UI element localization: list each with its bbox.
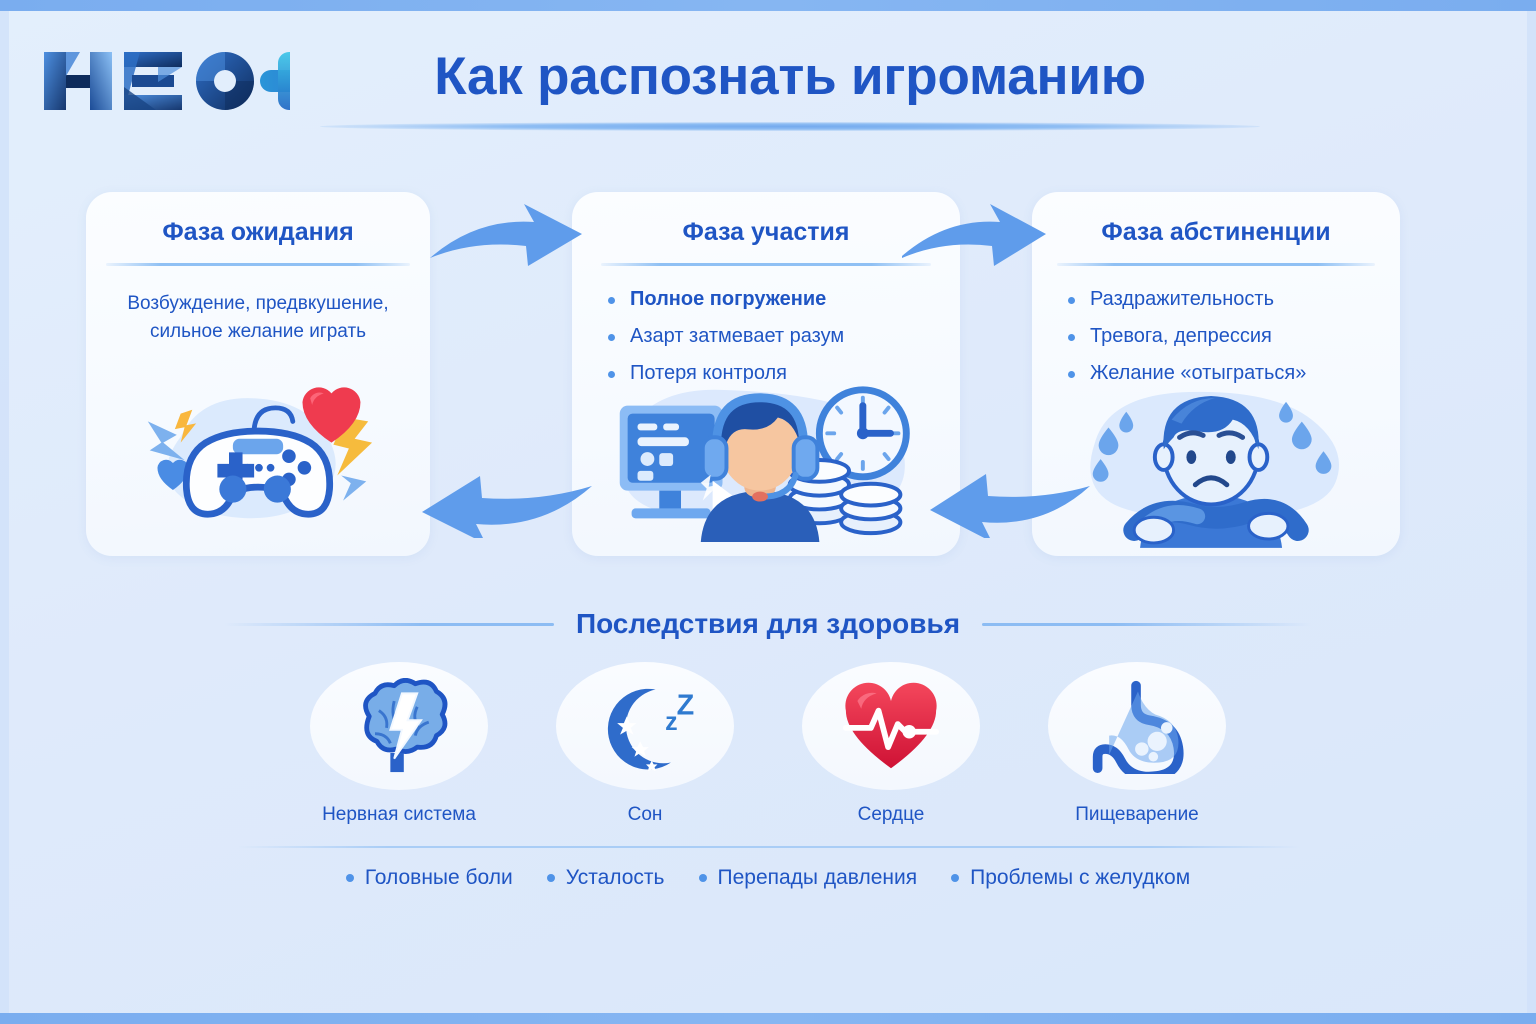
title-underline [320, 122, 1260, 131]
bullet-dot [1068, 334, 1075, 341]
card-divider [601, 263, 931, 266]
health-item-label: Пищеварение [1047, 804, 1227, 826]
health-icons-row: Нервная система z Z Сон [0, 662, 1536, 826]
list-item-label: Перепады давления [718, 866, 918, 890]
list-item-label: Тревога, депрессия [1090, 325, 1272, 347]
bullet-dot [1068, 297, 1075, 304]
svg-text:Z: Z [677, 689, 695, 721]
list-item-label: Проблемы с желудком [970, 866, 1190, 890]
icon-bubble [310, 662, 488, 790]
brain-lightning-icon [345, 678, 453, 774]
flow-arrow-forward-2 [898, 202, 1050, 268]
gamer-illustration [572, 364, 960, 550]
card-divider [1057, 263, 1375, 266]
list-item: Головные боли [346, 866, 513, 890]
health-item-label: Нервная система [309, 804, 489, 826]
health-item-label: Сердце [801, 804, 981, 826]
gamepad-heart-illustration [86, 364, 430, 550]
card-divider [106, 263, 410, 266]
brand-logo [38, 42, 290, 120]
phase-card-description: Возбуждение, предвкушение, сильное желан… [108, 290, 408, 345]
list-item: Проблемы с желудком [951, 866, 1190, 890]
bullet-dot [608, 334, 615, 341]
icon-bubble [802, 662, 980, 790]
consequences-title: Последствия для здоровья [576, 608, 960, 640]
stomach-icon [1083, 678, 1191, 774]
left-edge-strip [0, 0, 9, 1024]
bullet-dot [951, 874, 959, 882]
list-item: Раздражительность [1066, 288, 1400, 311]
health-item-digestion[interactable]: Пищеварение [1047, 662, 1227, 826]
heading-rule-right [982, 623, 1312, 626]
bullet-dot [547, 874, 555, 882]
bullet-dot [699, 874, 707, 882]
phase-card-title: Фаза ожидания [86, 218, 430, 247]
heart-pulse-icon [837, 678, 945, 774]
list-item-label: Полное погружение [630, 288, 826, 310]
moon-stars-zzz-icon: z Z [591, 678, 699, 774]
list-item: Усталость [547, 866, 665, 890]
heading-rule-left [224, 623, 554, 626]
phase-card-anticipation[interactable]: Фаза ожидания Возбуждение, предвкушение,… [86, 192, 430, 556]
health-item-label: Сон [555, 804, 735, 826]
flow-arrow-back-2 [916, 468, 1094, 538]
health-item-nervous-system[interactable]: Нервная система [309, 662, 489, 826]
flow-arrow-forward-1 [424, 202, 588, 268]
list-item-label: Раздражительность [1090, 288, 1274, 310]
phase-card-title: Фаза абстиненции [1032, 218, 1400, 247]
list-item-label: Головные боли [365, 866, 513, 890]
list-item-label: Азарт затмевает разум [630, 325, 844, 347]
phase-flow: Фаза ожидания Возбуждение, предвкушение,… [0, 192, 1536, 562]
health-item-heart[interactable]: Сердце [801, 662, 981, 826]
list-item: Азарт затмевает разум [606, 325, 960, 348]
symptoms-list: Головные боли Усталость Перепады давлени… [0, 866, 1536, 890]
bullet-dot [608, 297, 615, 304]
infographic-poster: Как распознать игроманию Фаза ожидания В… [0, 0, 1536, 1024]
list-item: Полное погружение [606, 288, 960, 311]
bullet-dot [346, 874, 354, 882]
symptoms-divider [238, 846, 1300, 848]
icon-bubble [1048, 662, 1226, 790]
top-accent-band [0, 0, 1536, 11]
list-item-label: Усталость [566, 866, 665, 890]
consequences-heading: Последствия для здоровья [0, 608, 1536, 640]
health-item-sleep[interactable]: z Z Сон [555, 662, 735, 826]
bottom-accent-band [0, 1013, 1536, 1024]
icon-bubble: z Z [556, 662, 734, 790]
flow-arrow-back-1 [406, 468, 596, 538]
page-title: Как распознать игроманию [340, 46, 1240, 107]
list-item: Перепады давления [699, 866, 918, 890]
right-edge-strip [1527, 0, 1536, 1024]
list-item: Тревога, депрессия [1066, 325, 1400, 348]
